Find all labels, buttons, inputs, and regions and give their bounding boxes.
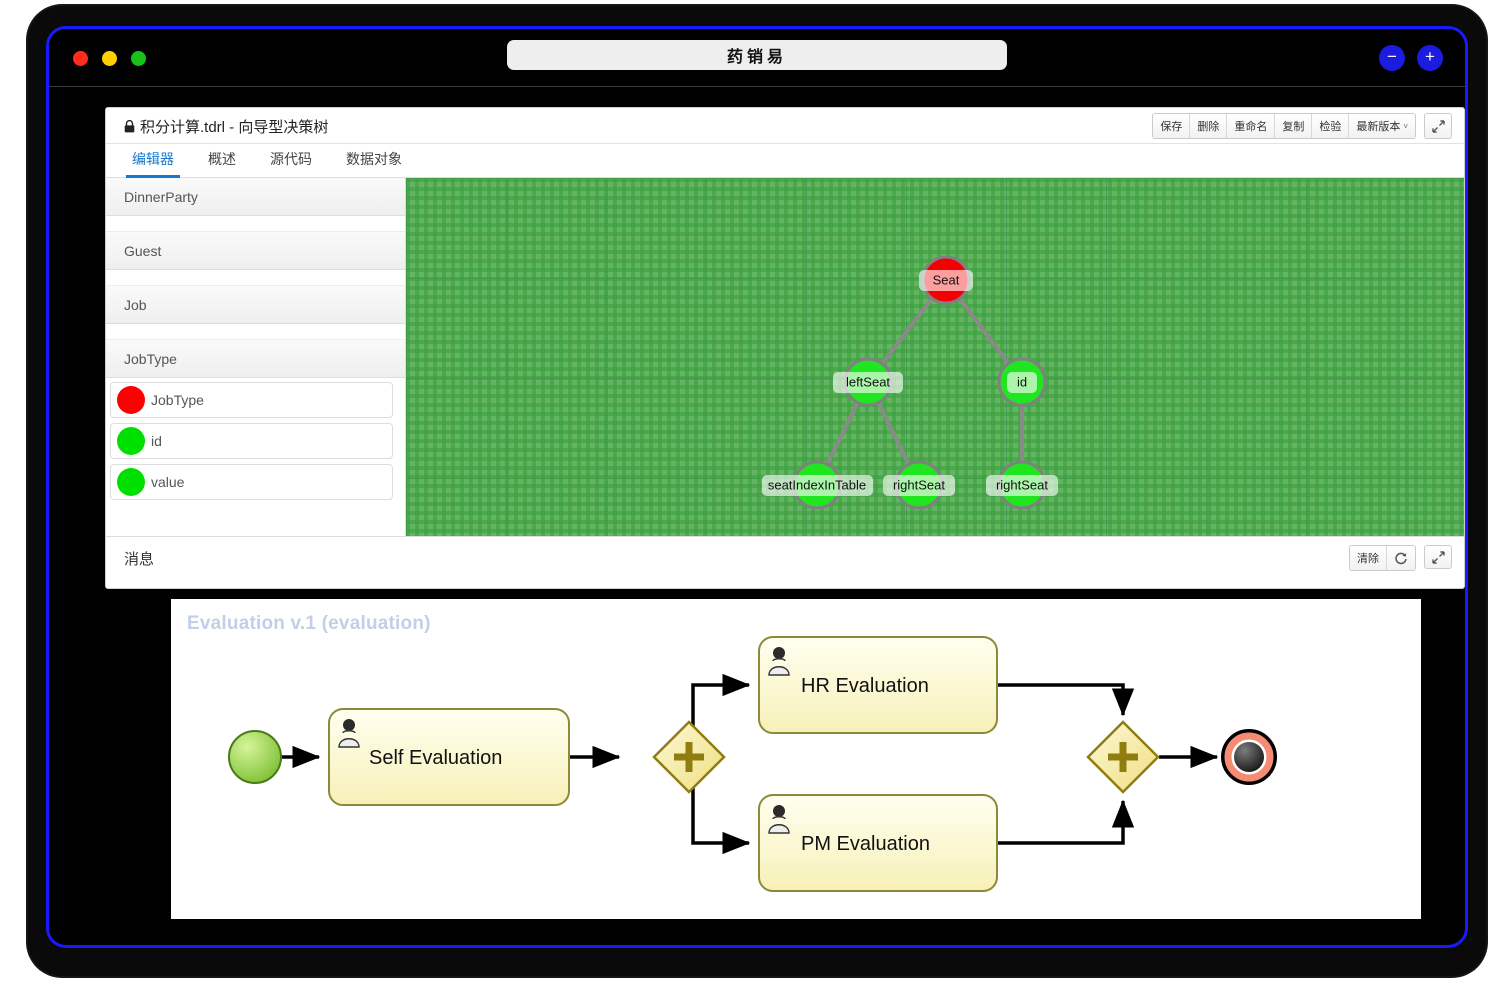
accordion-item-jobtype[interactable]: JobType [106, 340, 405, 378]
accordion-spacer-1 [106, 216, 405, 232]
page-title: 积分计算.tdrl - 向导型决策树 [124, 116, 328, 137]
editor-header: 积分计算.tdrl - 向导型决策树 保存 删除 重命名 复制 检验 最新版本 … [106, 108, 1464, 144]
bpmn-diagram: Self Evaluation HR Evaluation [171, 599, 1421, 919]
zoom-out-button[interactable]: − [1379, 45, 1405, 71]
tree-node-rightseat-2-label: rightSeat [996, 477, 1048, 492]
task-self-evaluation[interactable]: Self Evaluation [329, 709, 569, 805]
field-label: JobType [151, 392, 204, 408]
flow-hr-to-join [989, 685, 1123, 715]
messages-toolbar: 清除 [1349, 545, 1452, 571]
accordion-spacer-3 [106, 324, 405, 340]
save-button[interactable]: 保存 [1153, 114, 1190, 138]
bpmn-process-panel: Evaluation v.1 (evaluation) [171, 599, 1421, 919]
list-item[interactable]: JobType [110, 382, 393, 418]
task-pm-evaluation[interactable]: PM Evaluation [759, 795, 997, 891]
field-label: value [151, 474, 184, 490]
expand-messages-icon[interactable] [1424, 545, 1452, 569]
field-label: id [151, 433, 162, 449]
list-item[interactable]: value [110, 464, 393, 500]
tree-node-seatindexintable-label: seatIndexInTable [768, 477, 866, 492]
parallel-gateway-fork[interactable] [654, 722, 724, 792]
tree-nodes: Seat leftSeat id seatIndexInTable [762, 257, 1058, 508]
accordion-item-guest[interactable]: Guest [106, 232, 405, 270]
minimize-button[interactable] [102, 51, 117, 66]
task-self-evaluation-label: Self Evaluation [369, 747, 502, 769]
rename-button[interactable]: 重命名 [1227, 114, 1275, 138]
task-hr-evaluation[interactable]: HR Evaluation [759, 637, 997, 733]
close-button[interactable] [73, 51, 88, 66]
editor-body: DinnerParty Guest Job JobType JobType [106, 178, 1464, 536]
parallel-gateway-join[interactable] [1088, 722, 1158, 792]
decision-tree-editor: 积分计算.tdrl - 向导型决策树 保存 删除 重命名 复制 检验 最新版本 … [105, 107, 1465, 589]
clear-messages-button[interactable]: 清除 [1350, 546, 1387, 570]
decision-tree-graph: Seat leftSeat id seatIndexInTable [406, 178, 1464, 536]
task-hr-evaluation-label: HR Evaluation [801, 675, 929, 697]
maximize-button[interactable] [131, 51, 146, 66]
version-dropdown-label: 最新版本 [1356, 118, 1400, 134]
zoom-in-button[interactable]: + [1417, 45, 1443, 71]
window-titlebar: 药销易 − + [49, 29, 1465, 87]
field-color-dot-icon [117, 468, 145, 496]
device-frame: 药销易 − + 积分计算.tdrl - 向导型决策树 [28, 6, 1486, 976]
end-event[interactable] [1224, 732, 1274, 782]
version-dropdown[interactable]: 最新版本 ˅ [1349, 114, 1415, 138]
tab-editor[interactable]: 编辑器 [122, 149, 184, 177]
messages-button-group: 清除 [1349, 545, 1416, 571]
app-window: 药销易 − + 积分计算.tdrl - 向导型决策树 [46, 26, 1468, 948]
flow-pm-to-join [989, 801, 1123, 843]
window-controls: − + [1379, 45, 1443, 71]
doc-title-text: 积分计算.tdrl - 向导型决策树 [140, 119, 328, 136]
accordion-item-job[interactable]: Job [106, 286, 405, 324]
refresh-icon[interactable] [1387, 546, 1415, 570]
decision-tree-canvas[interactable]: Seat leftSeat id seatIndexInTable [406, 178, 1464, 536]
tree-node-leftseat-label: leftSeat [846, 374, 890, 389]
editor-tabs: 编辑器 概述 源代码 数据对象 [106, 144, 1464, 178]
list-item[interactable]: id [110, 423, 393, 459]
chevron-down-icon: ˅ [1403, 122, 1408, 131]
toolbar-separator [1416, 113, 1424, 139]
tree-node-id-label: id [1017, 374, 1027, 389]
task-pm-evaluation-label: PM Evaluation [801, 833, 930, 855]
tree-node-rightseat-1-label: rightSeat [893, 477, 945, 492]
lock-icon [124, 120, 135, 137]
expand-icon[interactable] [1424, 113, 1452, 139]
start-event[interactable] [229, 731, 281, 783]
field-color-dot-icon [117, 386, 145, 414]
toolbar-button-group: 保存 删除 重命名 复制 检验 最新版本 ˅ [1152, 113, 1416, 139]
editor-toolbar: 保存 删除 重命名 复制 检验 最新版本 ˅ [1152, 113, 1452, 139]
tree-node-seat-label: Seat [933, 272, 960, 287]
tab-data-objects[interactable]: 数据对象 [336, 149, 412, 177]
window-title: 药销易 [507, 40, 1007, 70]
tab-overview[interactable]: 概述 [198, 149, 246, 177]
fact-types-panel: DinnerParty Guest Job JobType JobType [106, 178, 406, 536]
validate-button[interactable]: 检验 [1312, 114, 1349, 138]
tab-source[interactable]: 源代码 [260, 149, 322, 177]
accordion-item-dinnerparty[interactable]: DinnerParty [106, 178, 405, 216]
copy-button[interactable]: 复制 [1275, 114, 1312, 138]
messages-bar: 消息 清除 [106, 536, 1464, 580]
field-color-dot-icon [117, 427, 145, 455]
delete-button[interactable]: 删除 [1190, 114, 1227, 138]
accordion-spacer-2 [106, 270, 405, 286]
messages-label: 消息 [124, 548, 154, 569]
traffic-lights [73, 51, 146, 66]
jobtype-field-list: JobType id value [106, 378, 405, 509]
